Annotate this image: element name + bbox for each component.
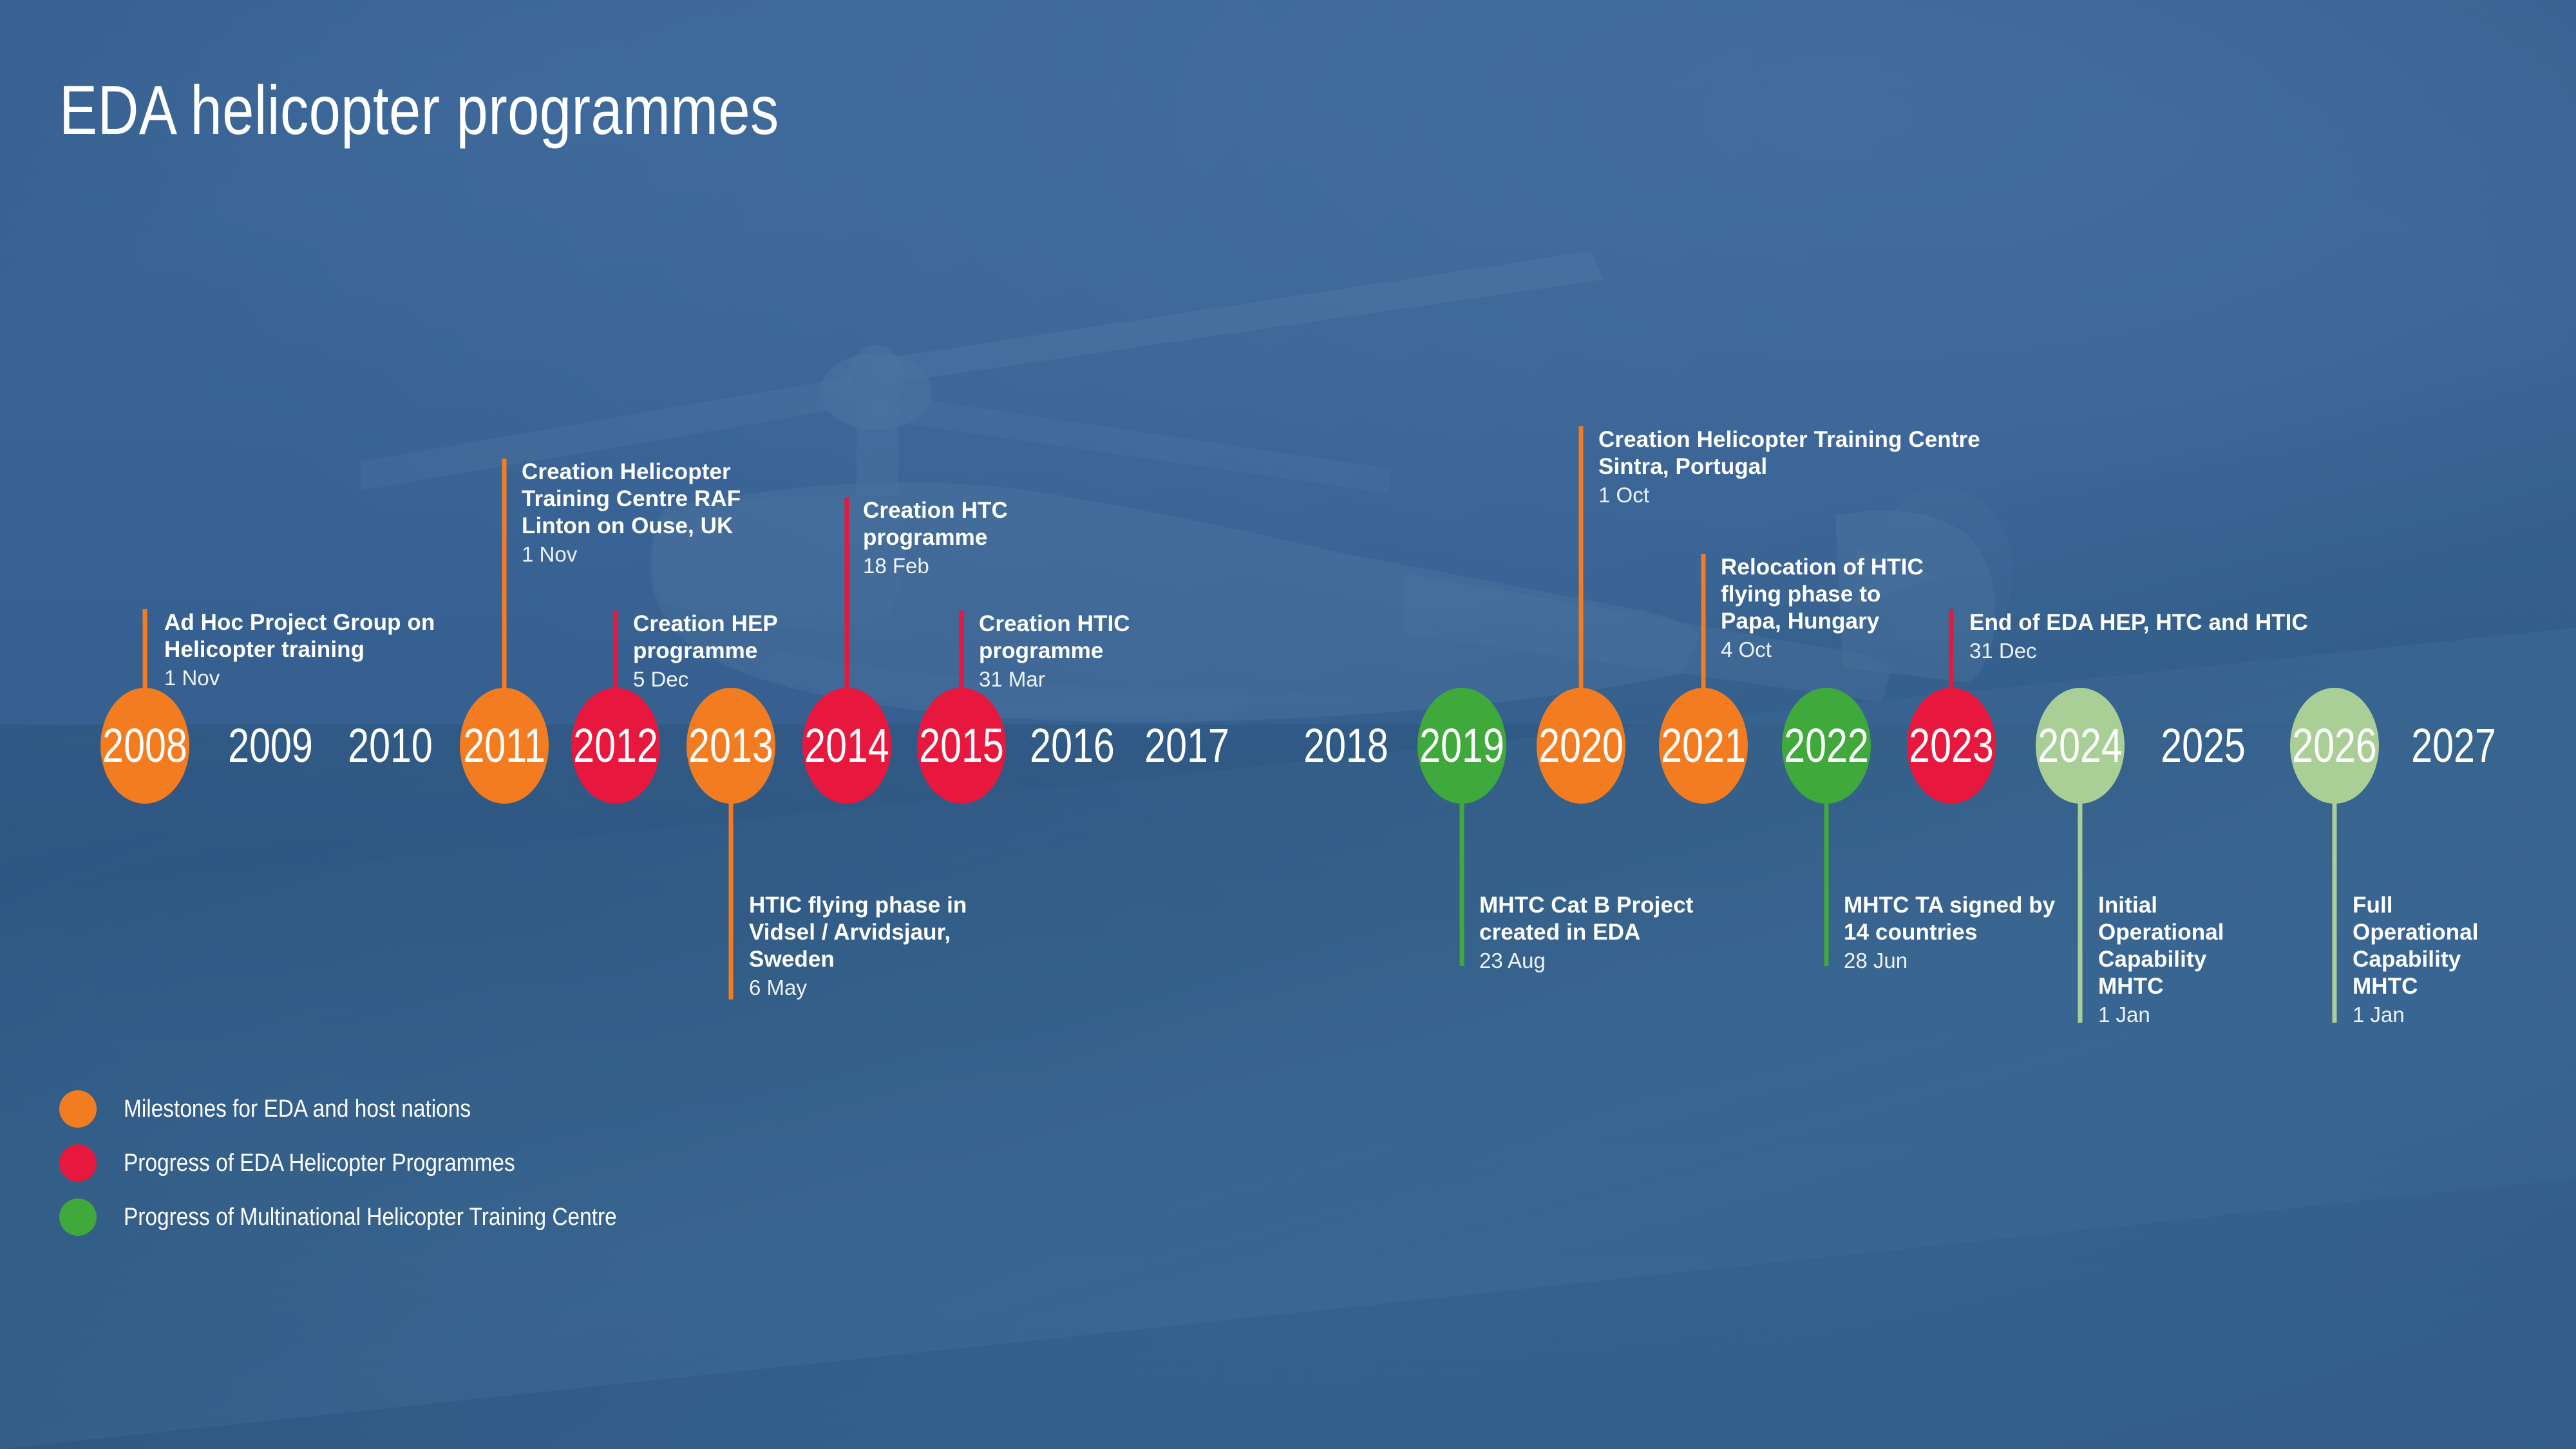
event-date: 31 Mar xyxy=(979,667,1130,692)
legend-item[interactable]: Progress of Multinational Helicopter Tra… xyxy=(59,1190,684,1244)
year-label-2012[interactable]: 2012 xyxy=(563,722,669,770)
legend: Milestones for EDA and host nationsProgr… xyxy=(59,1082,684,1244)
event-connector-line xyxy=(1824,799,1829,966)
event-title: Ad Hoc Project Group on Helicopter train… xyxy=(164,609,435,663)
event-label-mhtc-ta-signed: MHTC TA signed by 14 countries28 Jun xyxy=(1844,892,2055,974)
legend-label-text: Progress of EDA Helicopter Programmes xyxy=(124,1150,515,1177)
year-label-text: 2011 xyxy=(463,722,545,770)
event-connector-line xyxy=(960,611,964,696)
legend-color-dot xyxy=(59,1198,97,1236)
event-connector-line xyxy=(502,459,507,696)
year-label-text: 2018 xyxy=(1303,722,1388,770)
year-label-2024[interactable]: 2024 xyxy=(2027,722,2134,770)
event-title: Creation Helicopter Training Centre Sint… xyxy=(1598,426,1980,480)
event-date: 1 Jan xyxy=(2098,1002,2224,1028)
legend-label-text: Progress of Multinational Helicopter Tra… xyxy=(124,1204,617,1231)
year-label-2016[interactable]: 2016 xyxy=(1019,722,1126,770)
event-date: 31 Dec xyxy=(1969,638,2308,664)
year-label-text: 2023 xyxy=(1909,722,1994,770)
year-label-2025[interactable]: 2025 xyxy=(2150,722,2257,770)
event-date: 23 Aug xyxy=(1479,948,1693,974)
event-label-mhtc-cat-b-project: MHTC Cat B Project created in EDA23 Aug xyxy=(1479,892,1693,974)
event-date: 28 Jun xyxy=(1844,948,2055,974)
event-connector-line xyxy=(729,799,734,999)
event-date: 1 Nov xyxy=(164,665,435,691)
event-connector-line xyxy=(143,609,147,696)
event-label-ad-hoc-project-group: Ad Hoc Project Group on Helicopter train… xyxy=(164,609,435,691)
legend-label: Milestones for EDA and host nations xyxy=(124,1095,518,1123)
year-label-2009[interactable]: 2009 xyxy=(218,722,324,770)
year-label-text: 2025 xyxy=(2161,722,2246,770)
event-label-full-operational-capability: Full Operational Capability MHTC1 Jan xyxy=(2353,892,2479,1028)
event-label-creation-htc-sintra: Creation Helicopter Training Centre Sint… xyxy=(1598,426,1980,508)
year-label-text: 2009 xyxy=(228,722,313,770)
event-label-creation-htc-raf-linton: Creation Helicopter Training Centre RAF … xyxy=(522,459,741,567)
year-label-text: 2012 xyxy=(573,722,658,770)
event-date: 1 Oct xyxy=(1598,482,1980,508)
infographic-canvas: EDA helicopter programmes 20082009201020… xyxy=(0,0,2576,1449)
event-connector-line xyxy=(1579,426,1584,696)
year-label-text: 2010 xyxy=(348,722,433,770)
year-label-2019[interactable]: 2019 xyxy=(1409,722,1515,770)
event-title: Relocation of HTIC flying phase to Papa,… xyxy=(1721,554,1924,635)
year-label-text: 2022 xyxy=(1784,722,1869,770)
year-label-text: 2021 xyxy=(1661,722,1746,770)
year-label-2015[interactable]: 2015 xyxy=(909,722,1015,770)
event-connector-line xyxy=(1701,554,1706,696)
event-date: 18 Feb xyxy=(863,553,1008,579)
year-label-text: 2027 xyxy=(2411,722,2496,770)
year-label-2023[interactable]: 2023 xyxy=(1899,722,2005,770)
event-label-htic-flying-phase-vidsel: HTIC flying phase in Vidsel / Arvidsjaur… xyxy=(749,892,967,1001)
event-label-initial-operational-capability: Initial Operational Capability MHTC1 Jan xyxy=(2098,892,2224,1028)
event-connector-line xyxy=(2078,799,2083,1023)
event-title: Creation HTC programme xyxy=(863,497,1008,551)
legend-color-dot xyxy=(59,1090,97,1128)
year-label-2008[interactable]: 2008 xyxy=(92,722,198,770)
event-title: Creation HEP programme xyxy=(633,611,778,665)
year-label-2020[interactable]: 2020 xyxy=(1528,722,1634,770)
year-label-2026[interactable]: 2026 xyxy=(2282,722,2388,770)
legend-item[interactable]: Milestones for EDA and host nations xyxy=(59,1082,684,1136)
year-label-2022[interactable]: 2022 xyxy=(1774,722,1880,770)
event-date: 6 May xyxy=(749,975,967,1001)
event-title: End of EDA HEP, HTC and HTIC xyxy=(1969,609,2308,636)
event-title: Creation HTIC programme xyxy=(979,611,1130,665)
event-label-creation-htic-programme: Creation HTIC programme31 Mar xyxy=(979,611,1130,692)
year-label-text: 2017 xyxy=(1144,722,1229,770)
event-title: Creation Helicopter Training Centre RAF … xyxy=(522,459,741,540)
year-label-text: 2019 xyxy=(1419,722,1504,770)
event-date: 4 Oct xyxy=(1721,637,1924,663)
year-label-text: 2013 xyxy=(688,722,773,770)
year-label-text: 2008 xyxy=(102,722,187,770)
legend-item[interactable]: Progress of EDA Helicopter Programmes xyxy=(59,1136,684,1190)
year-label-text: 2024 xyxy=(2038,722,2123,770)
year-label-text: 2020 xyxy=(1539,722,1624,770)
event-connector-line xyxy=(1460,799,1464,966)
event-date: 1 Nov xyxy=(522,542,741,567)
legend-label: Progress of EDA Helicopter Programmes xyxy=(124,1150,569,1177)
event-label-end-of-eda-hep-htc-htic: End of EDA HEP, HTC and HTIC31 Dec xyxy=(1969,609,2308,664)
year-label-2018[interactable]: 2018 xyxy=(1293,722,1399,770)
year-label-2014[interactable]: 2014 xyxy=(794,722,900,770)
year-label-2013[interactable]: 2013 xyxy=(678,722,784,770)
event-title: MHTC TA signed by 14 countries xyxy=(1844,892,2055,946)
year-label-text: 2015 xyxy=(919,722,1004,770)
event-label-creation-htc-programme: Creation HTC programme18 Feb xyxy=(863,497,1008,579)
year-label-text: 2014 xyxy=(804,722,889,770)
event-label-relocation-htic-papa: Relocation of HTIC flying phase to Papa,… xyxy=(1721,554,1924,663)
event-connector-line xyxy=(845,497,849,696)
event-connector-line xyxy=(614,611,618,696)
year-label-text: 2026 xyxy=(2292,722,2377,770)
year-label-2017[interactable]: 2017 xyxy=(1134,722,1240,770)
event-title: Full Operational Capability MHTC xyxy=(2353,892,2479,1000)
event-title: HTIC flying phase in Vidsel / Arvidsjaur… xyxy=(749,892,967,973)
event-date: 1 Jan xyxy=(2353,1002,2479,1028)
event-connector-line xyxy=(1949,609,1954,696)
legend-color-dot xyxy=(59,1144,97,1182)
year-label-2011[interactable]: 2011 xyxy=(453,722,555,770)
event-title: MHTC Cat B Project created in EDA xyxy=(1479,892,1693,946)
event-label-creation-hep-programme: Creation HEP programme5 Dec xyxy=(633,611,778,692)
legend-label-text: Milestones for EDA and host nations xyxy=(124,1095,471,1123)
event-title: Initial Operational Capability MHTC xyxy=(2098,892,2224,1000)
year-label-2010[interactable]: 2010 xyxy=(337,722,444,770)
year-label-2027[interactable]: 2027 xyxy=(2401,722,2507,770)
event-date: 5 Dec xyxy=(633,667,778,692)
year-label-text: 2016 xyxy=(1030,722,1115,770)
legend-label: Progress of Multinational Helicopter Tra… xyxy=(124,1204,684,1231)
year-label-2021[interactable]: 2021 xyxy=(1651,722,1757,770)
event-connector-line xyxy=(2333,799,2337,1023)
